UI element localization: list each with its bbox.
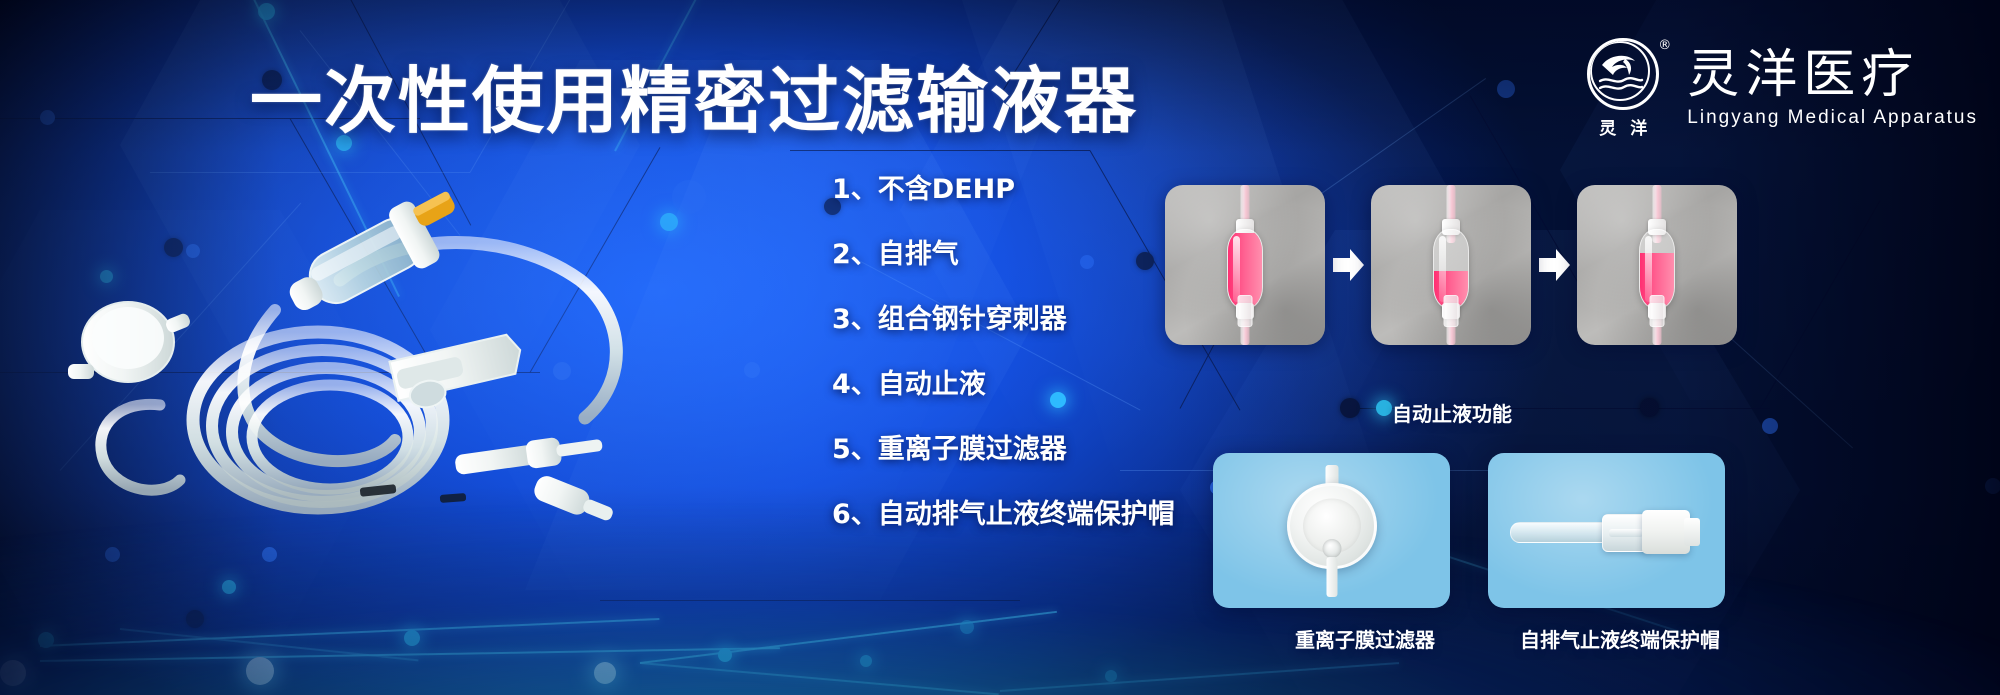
right-arrow-icon [1325,185,1371,345]
demo-sequence-row [1165,185,1737,345]
brand-name-cn: 灵洋医疗 [1687,48,1919,103]
demo-shot-3 [1577,185,1737,345]
demo-shot-1 [1165,185,1325,345]
feature-item-5: 5、重离子膜过滤器 [832,436,1212,463]
logo-sub-label: 灵洋 [1585,114,1661,139]
feature-item-4: 4、自动止液 [832,371,1212,398]
banner-title: 一次性使用精密过滤输液器 [250,42,1138,147]
brand-logo: ® 灵洋 [1579,38,1667,139]
demo-sequence-caption: 自动止液功能 [1392,398,1512,427]
ion-membrane-filter-panel [1213,453,1450,608]
infusion-set-photo [40,150,640,550]
feature-item-6: 6、自动排气止液终端保护帽 [832,501,1212,528]
registered-mark-icon: ® [1658,38,1671,53]
terminal-protective-cap-panel [1488,453,1725,608]
feature-item-3: 3、组合钢针穿刺器 [832,306,1212,333]
feature-item-1: 1、不含DEHP [832,176,1212,203]
component-panel-row [1213,453,1725,608]
feature-list: 1、不含DEHP 2、自排气 3、组合钢针穿刺器 4、自动止液 5、重离子膜过滤… [832,176,1212,566]
brand-name-en: Lingyang Medical Apparatus [1687,107,1978,129]
product-banner: 一次性使用精密过滤输液器 ® 灵洋 灵洋医疗 Lingyang Medical … [0,0,2000,695]
lingyang-wave-logo-icon [1587,38,1659,110]
brand-text: 灵洋医疗 Lingyang Medical Apparatus [1687,48,1978,129]
feature-item-2: 2、自排气 [832,241,1212,268]
brand-block: ® 灵洋 灵洋医疗 Lingyang Medical Apparatus [1579,38,1978,139]
panel-caption-cap: 自排气止液终端保护帽 [1520,624,1720,653]
panel-caption-filter: 重离子膜过滤器 [1295,624,1435,653]
demo-shot-2 [1371,185,1531,345]
right-arrow-icon-2 [1531,185,1577,345]
